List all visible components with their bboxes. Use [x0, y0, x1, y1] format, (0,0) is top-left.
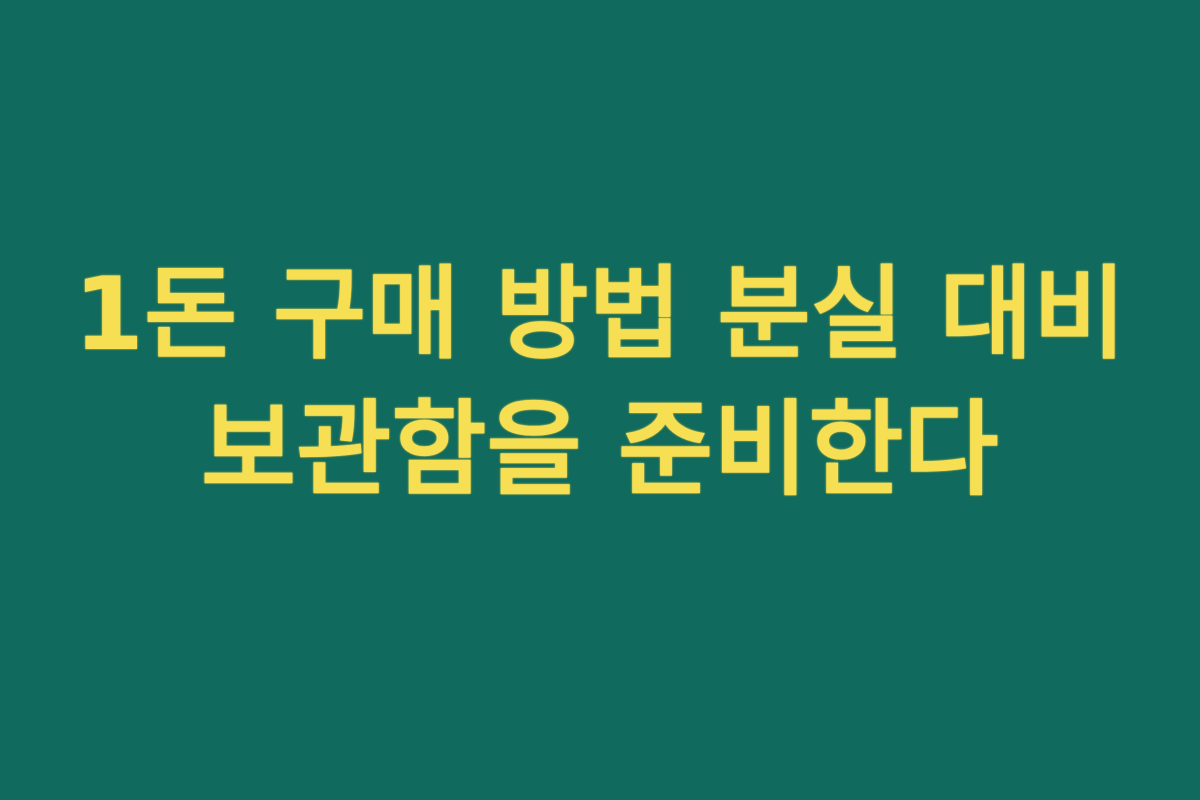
headline-line-2: 보관함을 준비한다 — [40, 396, 1160, 505]
banner-canvas: 1돈 구매 방법 분실 대비 보관함을 준비한다 — [0, 0, 1200, 800]
headline-line-1: 1돈 구매 방법 분실 대비 — [40, 261, 1160, 368]
headline-text-block: 1돈 구매 방법 분실 대비 보관함을 준비한다 — [40, 261, 1160, 505]
